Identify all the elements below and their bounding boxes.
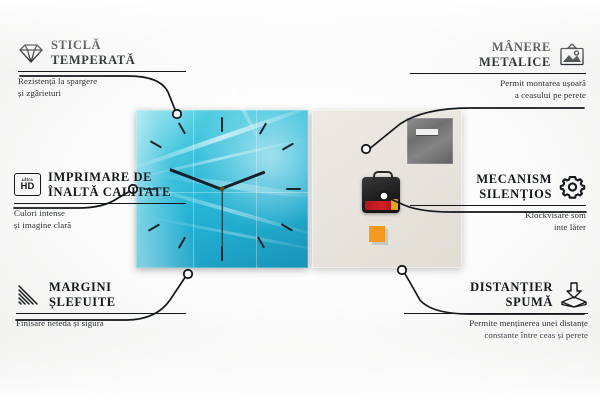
callout-subtitle-2: și imagine clară — [14, 220, 186, 232]
callout-title: MÂNERE — [479, 40, 551, 55]
callout-distantier-spuma: DISTANȚIER SPUMĂ Permite menținerea unei… — [404, 280, 588, 342]
leader-dot-distantier — [398, 266, 406, 274]
callout-subtitle: Culori intense — [14, 208, 186, 220]
callout-title: DISTANȚIER — [470, 280, 553, 295]
callout-title-2: METALICE — [479, 55, 551, 70]
callout-divider — [16, 313, 186, 315]
leader-line-manere — [368, 108, 584, 150]
callout-title: MECANISM — [476, 172, 552, 187]
callout-divider — [410, 73, 586, 75]
callout-subtitle: Rezistență la spargere — [18, 76, 186, 88]
picture-frame-hanger-icon — [558, 43, 586, 67]
callout-imprimare-inalta-calitate: ultra HD IMPRIMARE DE ÎNALTĂ CALITATE Cu… — [14, 170, 186, 232]
callout-divider — [404, 313, 588, 315]
infographic-canvas: STICLĂ TEMPERATĂ Rezistență la spargere … — [0, 0, 600, 400]
callout-title-2: ÎNALTĂ CALITATE — [48, 185, 171, 200]
callout-divider — [410, 205, 586, 207]
callout-title: IMPRIMARE DE — [48, 170, 171, 185]
callout-subtitle: Permit montarea ușoară — [410, 78, 586, 90]
callout-title: STICLĂ — [51, 38, 135, 53]
callout-manere-metalice: MÂNERE METALICE Permit montarea ușoară a… — [410, 40, 586, 102]
callout-mecanism-silentios: MECANISM SILENȚIOS Klockvisare som inte … — [410, 172, 586, 234]
callout-subtitle-2: și zgârieturi — [18, 88, 186, 100]
callout-sticla-temperata: STICLĂ TEMPERATĂ Rezistență la spargere … — [18, 38, 186, 100]
diamond-icon — [18, 42, 44, 64]
callout-margini-slefuite: MARGINI ȘLEFUITE Finisare netedă și sigu… — [16, 280, 186, 330]
callout-subtitle-2: a ceasului pe perete — [410, 90, 586, 102]
hd-badge-large-text: HD — [20, 182, 34, 192]
callout-subtitle: Permite menținerea unei distanțe — [404, 318, 588, 330]
callout-title: MARGINI — [49, 280, 116, 295]
leader-dot-mecanism — [380, 192, 388, 200]
leader-dot-manere — [362, 145, 370, 153]
callout-title-2: SILENȚIOS — [476, 187, 552, 202]
callout-subtitle: Finisare netedă și sigură — [16, 318, 186, 330]
callout-subtitle-2: inte låter — [410, 222, 586, 234]
callout-divider — [18, 71, 186, 73]
callout-divider — [14, 203, 186, 205]
spacer-pad-arrow-icon — [560, 282, 588, 308]
leader-dot-sticla — [173, 110, 181, 118]
callout-title-2: ȘLEFUITE — [49, 295, 116, 310]
callout-title-2: TEMPERATĂ — [51, 53, 135, 68]
callout-subtitle: Klockvisare som — [410, 210, 586, 222]
gear-icon — [559, 174, 586, 199]
callout-subtitle-2: constante între ceas și perete — [404, 330, 588, 342]
ultra-hd-badge-icon: ultra HD — [14, 173, 41, 196]
polished-edge-icon — [16, 284, 42, 306]
leader-dot-margini — [184, 270, 192, 278]
callout-title-2: SPUMĂ — [470, 295, 553, 310]
